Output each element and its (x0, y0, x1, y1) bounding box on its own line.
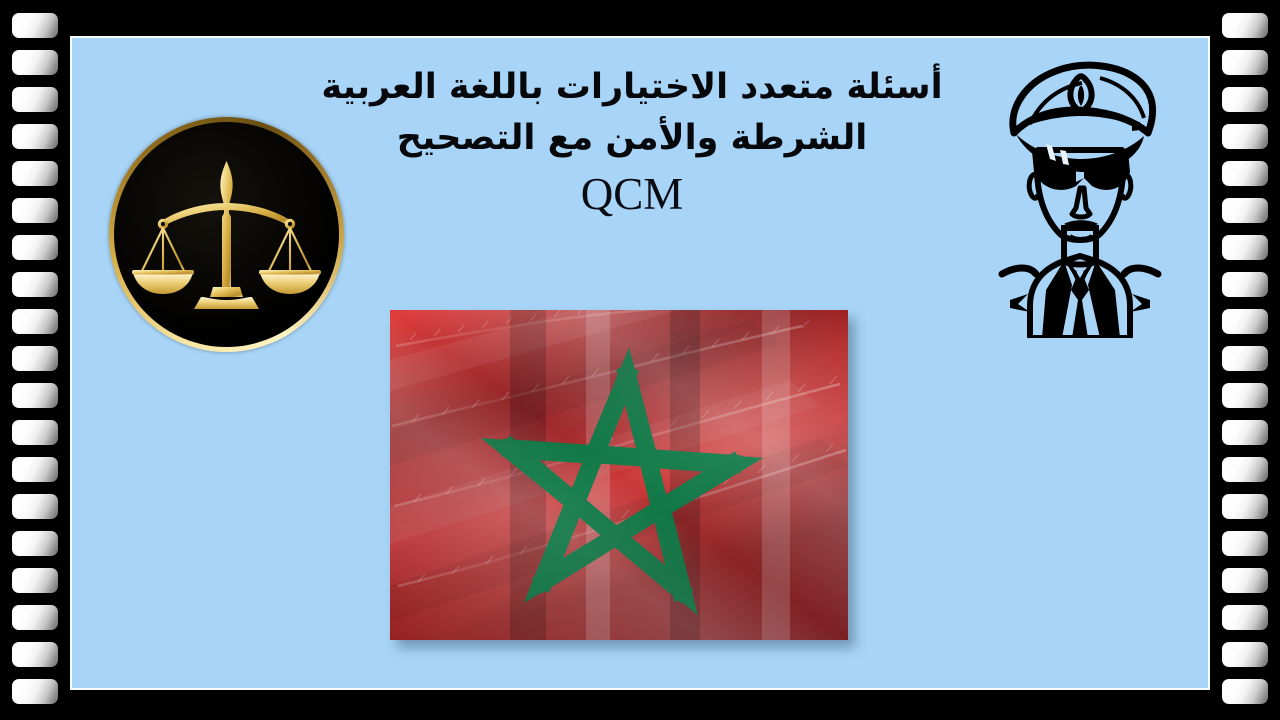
film-perforation (12, 642, 58, 667)
film-perforation (12, 124, 58, 149)
police-officer-glyph (972, 38, 1187, 338)
film-perforation (12, 87, 58, 112)
film-perforation (1222, 161, 1268, 186)
title-block: أسئلة متعدد الاختيارات باللغة العربية ال… (252, 62, 1012, 222)
film-perforation (1222, 568, 1268, 593)
film-perforation (12, 13, 58, 38)
film-perforation (12, 309, 58, 334)
film-strip-right (1210, 0, 1280, 720)
film-perforation (1222, 198, 1268, 223)
film-perforation (12, 346, 58, 371)
film-perforation (1222, 457, 1268, 482)
film-perforation (12, 383, 58, 408)
title-line-1: أسئلة متعدد الاختيارات باللغة العربية (252, 62, 1012, 113)
video-thumbnail-canvas: أسئلة متعدد الاختيارات باللغة العربية ال… (0, 0, 1280, 720)
film-perforation (12, 531, 58, 556)
film-strip-left (0, 0, 70, 720)
film-perforation (1222, 50, 1268, 75)
film-perforation (1222, 420, 1268, 445)
film-perforation (12, 679, 58, 704)
film-perforation (12, 457, 58, 482)
film-perforation (1222, 124, 1268, 149)
film-perforation (12, 198, 58, 223)
film-perforation (12, 494, 58, 519)
film-perforation (1222, 605, 1268, 630)
film-perforation (1222, 346, 1268, 371)
film-perforation (1222, 309, 1268, 334)
morocco-flag-image (390, 310, 848, 640)
film-perforation (1222, 87, 1268, 112)
film-perforation (12, 50, 58, 75)
film-perforation (1222, 642, 1268, 667)
film-perforation (1222, 13, 1268, 38)
film-perforation (1222, 272, 1268, 297)
police-officer-icon (972, 38, 1187, 338)
film-perforation (1222, 679, 1268, 704)
film-perforation (1222, 235, 1268, 260)
film-perforation (1222, 383, 1268, 408)
film-perforation (1222, 494, 1268, 519)
film-perforation (12, 605, 58, 630)
film-perforation (12, 161, 58, 186)
film-perforation (12, 272, 58, 297)
title-line-2: الشرطة والأمن مع التصحيح (252, 113, 1012, 164)
film-perforation (12, 235, 58, 260)
content-panel: أسئلة متعدد الاختيارات باللغة العربية ال… (70, 36, 1210, 690)
morocco-flag-graphic (390, 310, 848, 640)
film-perforation (1222, 531, 1268, 556)
film-perforation (12, 420, 58, 445)
film-perforation (12, 568, 58, 593)
title-line-qcm: QCM (252, 166, 1012, 222)
